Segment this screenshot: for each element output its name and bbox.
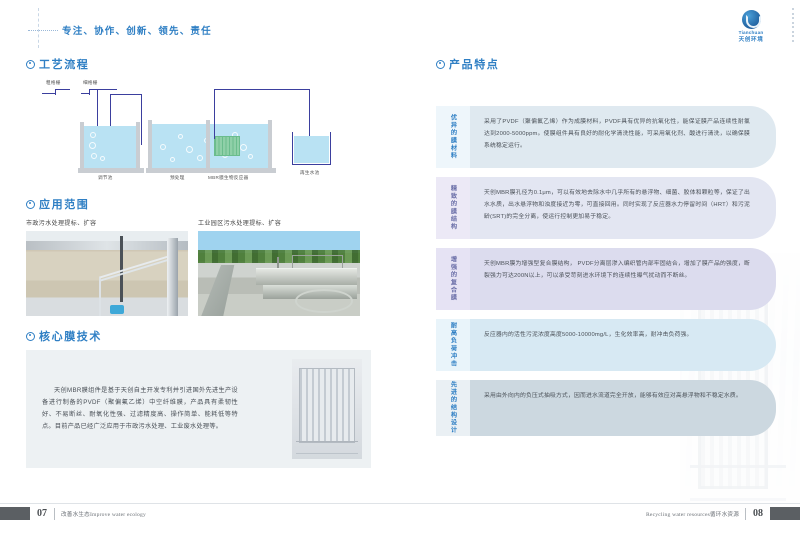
feature-tab-label-1: 优异的膜材料 — [449, 114, 458, 160]
bubble — [240, 144, 247, 151]
footer-page-number-left: 07 — [30, 508, 54, 519]
bubble — [197, 155, 203, 161]
feature-tab-1: 优异的膜材料 — [436, 106, 470, 168]
feature-card-structural-design: 先进的结构设计 采用由外向内的负压式抽吸方式，因而进水流道完全开放，能够有效应对… — [436, 380, 776, 436]
footer-divider — [0, 503, 800, 504]
grate-symbol-2c — [89, 89, 117, 90]
header-slogan: 专注、协作、创新、领先、责任 — [62, 23, 212, 37]
tank-reclaimed-water — [292, 132, 331, 165]
header-dotted-rule — [28, 30, 58, 31]
pipe-inlet-2 — [141, 94, 142, 145]
pipe-suction-riser — [214, 89, 215, 139]
process-flow-diagram: 粗格栅 细格栅 — [26, 80, 371, 192]
footer-block-right — [770, 507, 800, 520]
section-title-application-label: 应用范围 — [39, 196, 89, 212]
bubble — [178, 134, 183, 139]
bubble — [248, 154, 253, 159]
tank-wall-left — [80, 122, 84, 168]
logo-chinese-name: 天创环境 — [720, 35, 782, 43]
application-caption-industrial: 工业园区污水处理提标、扩容 — [198, 218, 360, 227]
feature-text-3: 天创MBR膜为增强型复合膜结构， PVDF分离层渗入编织管内部牢固结合，增加了膜… — [470, 248, 776, 310]
flow-label-mbr-reactor: MBR膜生物反应器 — [208, 175, 248, 181]
photo-valve — [110, 305, 124, 314]
feature-tab-5: 先进的结构设计 — [436, 380, 470, 436]
page-header: 专注、协作、创新、领先、责任 Tianchuan 天创环境 — [0, 0, 800, 56]
feature-tab-4: 耐高负荷冲击 — [436, 319, 470, 371]
feature-text-4: 反应器内的活性污泥浓度高度5000-10000mg/L，生化效率高，耐冲击负荷强… — [470, 319, 776, 371]
footer-right: Recycling water resources循环水资源 08 — [646, 507, 800, 520]
grate-symbol-1a — [42, 93, 56, 94]
footer-page-number-right: 08 — [746, 508, 770, 519]
circle-bullet-icon — [436, 60, 445, 69]
flow-label-coarse-grate: 粗格栅 — [46, 80, 61, 86]
feature-card-composite-membrane: 增强的复合膜 天创MBR膜为增强型复合膜结构， PVDF分离层渗入编织管内部牢固… — [436, 248, 776, 310]
tank-base-2 — [146, 168, 276, 173]
pipe-outlet-1-top — [110, 94, 142, 95]
photo-basin-upper — [256, 268, 356, 284]
feature-text-5: 采用由外向内的负压式抽吸方式，因而进水流道完全开放，能够有效应对高悬浮物和不稳定… — [470, 380, 776, 436]
tank-regulating — [84, 126, 136, 168]
header-dot-decoration — [792, 8, 794, 44]
grate-symbol-1c — [55, 89, 70, 90]
feature-text-2: 天创MBR膜孔径为0.1μm，可以有效地去除水中几乎所有的悬浮物、细菌、胶体和颗… — [470, 177, 776, 239]
feature-card-membrane-structure: 精致的膜结构 天创MBR膜孔径为0.1μm，可以有效地去除水中几乎所有的悬浮物、… — [436, 177, 776, 239]
bubble — [170, 157, 175, 162]
section-title-features-label: 产品特点 — [449, 56, 499, 72]
circle-bullet-icon — [26, 200, 35, 209]
bubble — [100, 156, 105, 161]
brochure-page: 专注、协作、创新、领先、责任 Tianchuan 天创环境 工艺流程 粗格栅 细… — [0, 0, 800, 535]
bubble — [160, 144, 166, 150]
flow-label-reclaimed-water: 再生水池 — [300, 170, 320, 176]
feature-tab-3: 增强的复合膜 — [436, 248, 470, 310]
feature-tab-label-2: 精致的膜结构 — [449, 185, 458, 231]
flow-label-tank-regulating: 调节池 — [98, 175, 113, 181]
section-title-application: 应用范围 — [26, 196, 371, 212]
tank-wall-left-2 — [148, 120, 152, 168]
core-tech-text: 天创MBR膜组件是基于天创自主开发专利并引进国外先进生产设备进行制备的PVDF（… — [26, 385, 250, 433]
circle-bullet-icon — [26, 60, 35, 69]
application-item-municipal: 市政污水处理提标、扩容 — [26, 218, 188, 316]
bubble — [91, 153, 97, 159]
footer-text-right: Recycling water resources循环水资源 — [646, 510, 745, 518]
tank-pretreatment-mbr — [152, 124, 268, 168]
header-vertical-rule — [38, 8, 39, 48]
flow-label-pretreatment: 预处理 — [170, 175, 185, 181]
section-title-process: 工艺流程 — [26, 56, 371, 72]
bubble — [186, 146, 193, 153]
pipe-suction-top — [214, 89, 310, 90]
feature-text-1: 采用了PVDF（聚偏氟乙烯）作为成膜材料，PVDF具有优异的抗氧化性，能保证膜产… — [470, 106, 776, 168]
section-title-process-label: 工艺流程 — [39, 56, 89, 72]
tank-wall-right-2 — [268, 120, 272, 168]
right-column: 产品特点 优异的膜材料 采用了PVDF（聚偏氟乙烯）作为成膜材料，PVDF具有优… — [436, 56, 776, 445]
mbr-membrane-module — [214, 136, 240, 156]
application-item-industrial: 工业园区污水处理提标、扩容 — [198, 218, 360, 316]
application-photo-municipal — [26, 231, 188, 316]
footer-left: 07 改善水生态Improve water ecology — [0, 507, 146, 520]
photo-walkway — [201, 265, 256, 316]
section-title-core-tech: 核心膜技术 — [26, 328, 371, 344]
core-tech-membrane-photo — [292, 359, 362, 459]
features-spacer — [436, 78, 776, 106]
flow-label-fine-grate: 细格栅 — [83, 80, 98, 86]
left-column: 工艺流程 粗格栅 细格栅 — [26, 56, 371, 468]
tank-wall-divider — [206, 120, 210, 168]
company-logo: Tianchuan 天创环境 — [720, 10, 782, 44]
application-photo-row: 市政污水处理提标、扩容 工业园区污水处理提标、扩容 — [26, 218, 371, 316]
feature-tab-label-5: 先进的结构设计 — [449, 381, 458, 434]
feature-tab-label-4: 耐高负荷冲击 — [449, 322, 458, 368]
footer-block-left — [0, 507, 30, 520]
tank-water-1 — [84, 126, 136, 168]
section-title-features: 产品特点 — [436, 56, 776, 72]
section-title-core-tech-label: 核心膜技术 — [39, 328, 102, 344]
footer-text-left: 改善水生态Improve water ecology — [55, 510, 146, 518]
bubble — [90, 132, 96, 138]
tank-base — [78, 168, 144, 173]
photo-clarifier-ring — [295, 289, 353, 313]
logo-mark-icon — [742, 10, 761, 29]
tank-water-2 — [152, 124, 268, 168]
application-photo-industrial — [198, 231, 360, 316]
feature-tab-2: 精致的膜结构 — [436, 177, 470, 239]
page-footer: 07 改善水生态Improve water ecology Recycling … — [0, 497, 800, 535]
feature-tab-label-3: 增强的复合膜 — [449, 256, 458, 302]
photo-steel-frame — [292, 255, 343, 268]
feature-card-membrane-material: 优异的膜材料 采用了PVDF（聚偏氟乙烯）作为成膜材料，PVDF具有优异的抗氧化… — [436, 106, 776, 168]
feature-card-load-resistance: 耐高负荷冲击 反应器内的活性污泥浓度高度5000-10000mg/L，生化效率高… — [436, 319, 776, 371]
tank-wall-right — [136, 122, 140, 168]
tank-water-reuse — [294, 136, 329, 163]
circle-bullet-icon — [26, 332, 35, 341]
bubble — [89, 142, 96, 149]
application-caption-municipal: 市政污水处理提标、扩容 — [26, 218, 188, 227]
core-tech-card: 天创MBR膜组件是基于天创自主开发专利并引进国外先进生产设备进行制备的PVDF（… — [26, 350, 371, 468]
